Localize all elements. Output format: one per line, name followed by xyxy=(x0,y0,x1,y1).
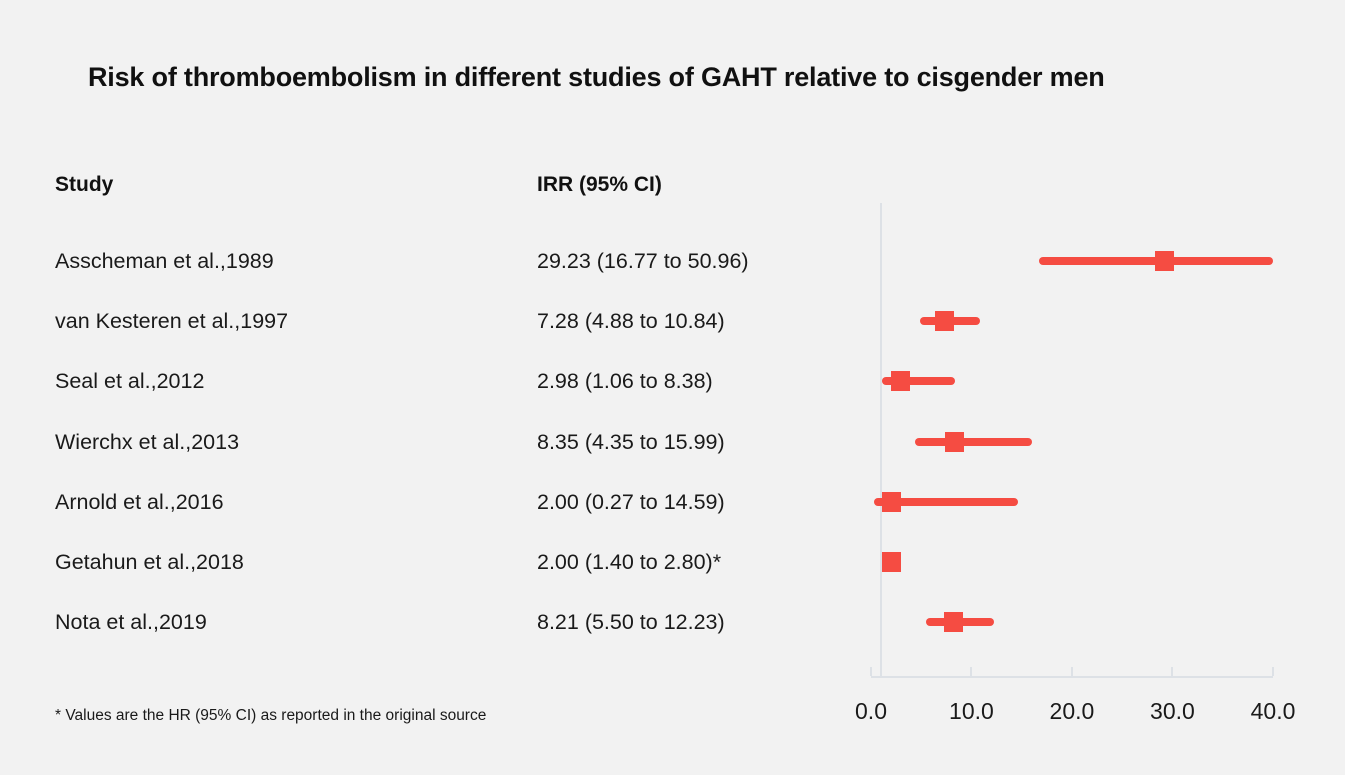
study-rows: Asscheman et al.,198929.23 (16.77 to 50.… xyxy=(0,0,1345,775)
study-name: Nota et al.,2019 xyxy=(55,607,207,637)
table-row: Arnold et al.,20162.00 (0.27 to 14.59) xyxy=(0,487,1345,517)
effect-estimate-value: 8.21 (5.50 to 12.23) xyxy=(537,607,725,637)
effect-estimate-value: 29.23 (16.77 to 50.96) xyxy=(537,246,749,276)
table-row: Getahun et al.,20182.00 (1.40 to 2.80)* xyxy=(0,547,1345,577)
study-name: Getahun et al.,2018 xyxy=(55,547,244,577)
study-name: Asscheman et al.,1989 xyxy=(55,246,274,276)
study-name: van Kesteren et al.,1997 xyxy=(55,306,288,336)
forest-plot-figure: Risk of thromboembolism in different stu… xyxy=(0,0,1345,775)
table-row: Seal et al.,20122.98 (1.06 to 8.38) xyxy=(0,366,1345,396)
study-name: Arnold et al.,2016 xyxy=(55,487,224,517)
study-name: Seal et al.,2012 xyxy=(55,366,204,396)
effect-estimate-value: 2.00 (0.27 to 14.59) xyxy=(537,487,725,517)
table-row: Wierchx et al.,20138.35 (4.35 to 15.99) xyxy=(0,427,1345,457)
effect-estimate-value: 8.35 (4.35 to 15.99) xyxy=(537,427,725,457)
footnote: * Values are the HR (95% CI) as reported… xyxy=(55,707,486,725)
effect-estimate-value: 2.00 (1.40 to 2.80)* xyxy=(537,547,721,577)
table-row: Nota et al.,20198.21 (5.50 to 12.23) xyxy=(0,607,1345,637)
study-name: Wierchx et al.,2013 xyxy=(55,427,239,457)
table-row: Asscheman et al.,198929.23 (16.77 to 50.… xyxy=(0,246,1345,276)
table-row: van Kesteren et al.,19977.28 (4.88 to 10… xyxy=(0,306,1345,336)
effect-estimate-value: 7.28 (4.88 to 10.84) xyxy=(537,306,725,336)
effect-estimate-value: 2.98 (1.06 to 8.38) xyxy=(537,366,713,396)
